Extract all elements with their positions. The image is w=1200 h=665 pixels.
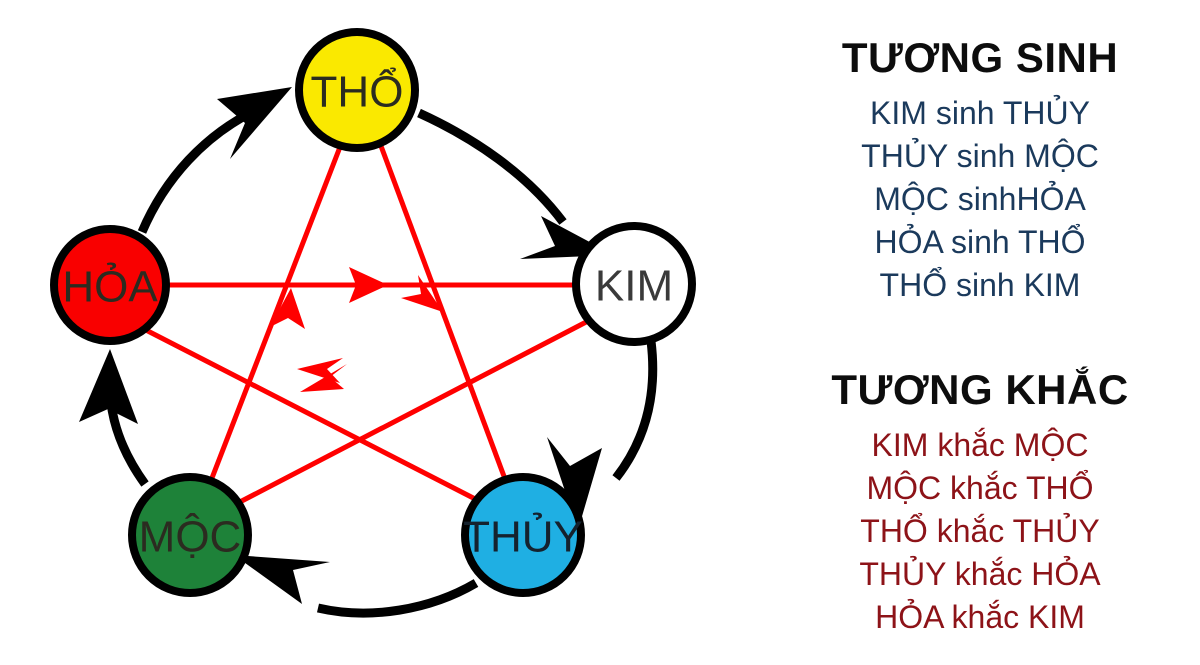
tuong-sinh-heading: TƯƠNG SINH	[760, 30, 1200, 86]
node-hoa-label: HỎA	[62, 261, 158, 312]
node-hoa[interactable]: HỎA	[54, 229, 166, 341]
overcoming-cycle-group	[140, 146, 590, 504]
tuong-khac-rule-list: KIM khắc MỘC MỘC khắc THỔ THỔ khắc THỦY …	[760, 424, 1200, 639]
arc-thuy-to-moc	[318, 583, 476, 613]
line-tho-to-thuy	[381, 146, 505, 479]
node-thuy-label: THỦY	[463, 511, 583, 562]
node-kim-label: KIM	[595, 262, 673, 311]
five-elements-diagram: THỔ KIM THỦY MỘC HỎA	[0, 0, 760, 665]
node-thuy[interactable]: THỦY	[463, 477, 583, 593]
list-item: MỘC khắc THỔ	[760, 467, 1200, 510]
five-elements-infographic: THỔ KIM THỦY MỘC HỎA	[0, 0, 1200, 665]
arc-tho-to-kim	[419, 113, 563, 222]
list-item: THỔ sinh KIM	[760, 264, 1200, 307]
tuong-sinh-block: TƯƠNG SINH KIM sinh THỦY THỦY sinh MỘC M…	[760, 30, 1200, 307]
node-moc-label: MỘC	[139, 512, 242, 562]
node-moc[interactable]: MỘC	[132, 477, 248, 593]
list-item: HỎA sinh THỔ	[760, 221, 1200, 264]
list-item: MỘC sinhHỎA	[760, 178, 1200, 221]
list-item: THỦY khắc HỎA	[760, 553, 1200, 596]
list-item: THỦY sinh MỘC	[760, 135, 1200, 178]
node-kim[interactable]: KIM	[576, 226, 692, 342]
tuong-khac-heading: TƯƠNG KHẮC	[760, 362, 1200, 418]
tuong-khac-block: TƯƠNG KHẮC KIM khắc MỘC MỘC khắc THỔ THỔ…	[760, 362, 1200, 639]
list-item: KIM khắc MỘC	[760, 424, 1200, 467]
node-tho-label: THỔ	[311, 66, 404, 117]
list-item: HỎA khắc KIM	[760, 596, 1200, 639]
five-elements-svg: THỔ KIM THỦY MỘC HỎA	[0, 0, 760, 665]
line-moc-to-tho	[212, 147, 340, 478]
rules-text-panel: TƯƠNG SINH KIM sinh THỦY THỦY sinh MỘC M…	[760, 0, 1200, 665]
tuong-sinh-rule-list: KIM sinh THỦY THỦY sinh MỘC MỘC sinhHỎA …	[760, 92, 1200, 307]
list-item: KIM sinh THỦY	[760, 92, 1200, 135]
arrowhead-thuy-to-moc	[234, 555, 330, 604]
arc-hoa-to-tho	[142, 110, 256, 232]
list-item: THỔ khắc THỦY	[760, 510, 1200, 553]
node-tho[interactable]: THỔ	[299, 32, 415, 148]
arc-kim-to-thuy	[616, 341, 653, 478]
